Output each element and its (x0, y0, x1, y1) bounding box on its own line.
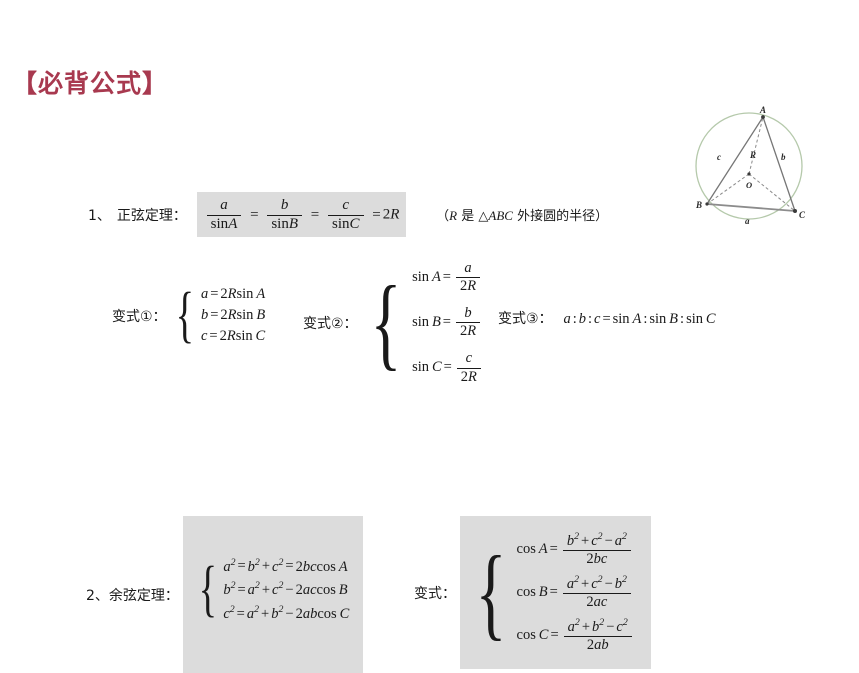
equals-sign: = (600, 311, 612, 327)
left-brace-icon: { (475, 528, 506, 657)
equation-row: cos A=b2+c2−a22bc (517, 528, 635, 571)
fraction: b2+c2−a22bc (563, 531, 631, 568)
fraction: c2R (457, 350, 481, 385)
delta-icon: △ (478, 209, 488, 224)
vertex-dot-B (705, 202, 708, 205)
denominator: sinB (267, 215, 302, 234)
angle-var: C (256, 328, 266, 344)
equation-row: c=2Rsin C (201, 326, 265, 347)
numerator: c (457, 350, 481, 367)
angle-var: B (256, 307, 265, 323)
side-var: b (615, 576, 622, 592)
equation-rows: a2=b2+c2=2bccos A b2=a2+c2−2accos B c2=a… (223, 554, 349, 625)
fraction: a2+b2−c22ab (564, 617, 632, 654)
label-A: A (759, 105, 766, 115)
sine-theorem-formula: a sinA = b sinB = c sinC =2R (197, 192, 407, 237)
exponent: 2 (598, 531, 603, 542)
label-B: B (695, 200, 702, 210)
equals-sign: = (235, 558, 247, 574)
left-brace-icon: { (371, 255, 402, 391)
ratio-colon: : (678, 311, 686, 327)
radius-var: R (468, 369, 477, 385)
variant-3-block: 变式③： a:b:c=sin A:sin B:sin C (498, 308, 716, 328)
circumcircle-shape (696, 113, 802, 219)
cosine-variant-block: 变式： { cos A=b2+c2−a22bc cos B=a2+c2−b22a… (414, 516, 651, 669)
numerator: a (456, 260, 480, 277)
equals-sign: = (248, 207, 260, 223)
equals-sign: = (441, 314, 453, 330)
equals-sign: = (548, 541, 560, 557)
angle-var: C (706, 311, 716, 327)
fraction: b2R (456, 305, 480, 340)
cos-operator: cos (517, 627, 536, 643)
exponent: 2 (622, 574, 627, 585)
product-vars: ac (594, 594, 608, 610)
equals-sign: = (441, 269, 453, 285)
denominator: 2bc (563, 550, 631, 568)
cosine-variant-system: { cos A=b2+c2−a22bc cos B=a2+c2−b22ac co… (466, 528, 635, 657)
ratio-colon: : (586, 311, 594, 327)
radius-var: R (228, 307, 237, 323)
cosine-theorem-index: 2、 (86, 585, 109, 605)
side-var: a (563, 311, 570, 327)
radius-var: R (227, 328, 236, 344)
radius-var: R (467, 278, 476, 294)
sin-operator: sin (332, 216, 350, 232)
cosine-theorem-row: 2、余弦定理： { a2=b2+c2=2bccos A b2=a2+c2−2ac… (86, 516, 363, 673)
equals-sign: = (208, 307, 220, 323)
variant-1-block: 变式①： { a=2Rsin A b=2Rsin B c=2Rsin C (112, 284, 265, 347)
sin-operator: sin (211, 216, 229, 232)
exponent: 2 (622, 531, 627, 542)
numerator: b (267, 197, 302, 215)
denominator: 2R (457, 368, 481, 386)
angle-var: B (289, 216, 298, 232)
fraction-a-over-sinA: a sinA (207, 197, 242, 233)
equation-row: cos C=a2+b2−c22ab (517, 614, 635, 657)
side-var: a (568, 619, 575, 635)
plus-sign: + (580, 619, 592, 635)
sine-theorem-index: 1、 (88, 208, 111, 224)
equals-sign: = (208, 286, 220, 302)
coefficient: 2 (296, 558, 303, 574)
page-title: 【必背公式】 (12, 64, 168, 100)
coefficient: 2 (220, 328, 227, 344)
equation-row: c2=a2+b2−2abcos C (223, 602, 349, 626)
angle-var: A (228, 216, 237, 232)
denominator: sinA (207, 215, 242, 234)
paren-open: （ (436, 209, 449, 224)
variant-3-label: 变式③： (498, 311, 553, 327)
sin-operator: sin (412, 359, 429, 375)
operator-sign: − (283, 582, 295, 598)
angle-var: A (539, 541, 548, 557)
sin-operator: sin (412, 269, 429, 285)
left-brace-icon: { (198, 554, 216, 625)
note-text: 是 (457, 209, 478, 224)
plus-sign: + (260, 582, 272, 598)
operator-sign: = (283, 558, 295, 574)
sine-theorem-row: 1、正弦定理： a sinA = b sinB = c sinC =2R （R … (88, 192, 608, 237)
product-vars: bc (303, 558, 317, 574)
cos-operator: cos (517, 541, 536, 557)
note-text: 外接圆的半径 (513, 209, 595, 224)
coefficient: 2 (587, 637, 594, 653)
equation-row: b=2Rsin B (201, 305, 265, 326)
cosine-variant-label: 变式： (414, 583, 456, 603)
variant-1-system: { a=2Rsin A b=2Rsin B c=2Rsin C (170, 284, 265, 347)
denominator: 2ac (563, 593, 631, 611)
denominator: 2R (456, 322, 480, 340)
angle-var: A (339, 558, 348, 574)
side-var: a (223, 558, 230, 574)
cos-operator: cos (317, 582, 336, 598)
fraction: a2R (456, 260, 480, 295)
variant-2-label: 变式②： (303, 313, 358, 333)
exponent: 2 (623, 617, 628, 628)
equation-row: sin B=b2R (412, 300, 484, 345)
equals-sign: = (207, 328, 219, 344)
equation-row: sin C=c2R (412, 345, 484, 390)
coefficient: 2 (586, 594, 593, 610)
triangle-side-b (763, 117, 795, 211)
equation-row: cos B=a2+c2−b22ac (517, 571, 635, 614)
exponent: 2 (598, 574, 603, 585)
angle-var: B (669, 311, 678, 327)
cosine-variant-formula-box: { cos A=b2+c2−a22bc cos B=a2+c2−b22ac co… (460, 516, 651, 669)
cos-operator: cos (317, 558, 336, 574)
center-dot-O (747, 172, 750, 175)
minus-sign: − (604, 619, 616, 635)
side-var: a (615, 533, 622, 549)
radius-to-A (749, 117, 763, 174)
angle-var: B (432, 314, 441, 330)
label-O: O (746, 180, 752, 190)
equals-sign: = (309, 207, 321, 223)
cosine-theorem-formula-box: { a2=b2+c2=2bccos A b2=a2+c2−2accos B c2… (183, 516, 364, 673)
sin-operator: sin (236, 328, 253, 344)
label-side-c: c (717, 152, 721, 162)
numerator: c (328, 197, 364, 215)
radius-to-B (707, 174, 749, 204)
sin-operator: sin (686, 311, 703, 327)
fraction-c-over-sinC: c sinC (328, 197, 364, 233)
radius-var: R (228, 286, 237, 302)
coefficient: 2 (586, 551, 593, 567)
label-R: R (749, 150, 756, 160)
sine-theorem-label: 正弦定理： (117, 208, 187, 224)
numerator: a2+c2−b2 (563, 574, 631, 593)
fraction: a2+c2−b22ac (563, 574, 631, 611)
side-var: b (248, 558, 255, 574)
variant-1-label: 变式①： (112, 306, 167, 326)
label-side-b: b (781, 152, 786, 162)
numerator: b (456, 305, 480, 322)
numerator: b2+c2−a2 (563, 531, 631, 550)
variant-2-block: 变式②： { sin A=a2R sin B=b2R sin C=c2R (303, 255, 484, 391)
ratio-colon: : (571, 311, 579, 327)
coefficient: 2 (220, 286, 227, 302)
side-var: a (248, 582, 255, 598)
sin-operator: sin (412, 314, 429, 330)
sin-operator: sin (237, 286, 254, 302)
equals-sign: = (548, 584, 560, 600)
plus-sign: + (579, 533, 591, 549)
radius-var: R (467, 323, 476, 339)
label-side-a: a (745, 216, 750, 226)
side-var: a (567, 576, 574, 592)
circumscribed-circle-diagram: A B C O R a b c (688, 104, 816, 232)
vertex-dot-A (761, 115, 765, 119)
product-vars: ac (303, 582, 317, 598)
angle-var: B (539, 584, 548, 600)
angle-var: A (432, 269, 441, 285)
plus-sign: + (579, 576, 591, 592)
cosine-system: { a2=b2+c2=2bccos A b2=a2+c2−2accos B c2… (193, 554, 350, 625)
triangle-vertices: ABC (488, 208, 513, 223)
denominator: sinC (328, 215, 364, 234)
label-C: C (799, 210, 806, 220)
plus-sign: + (260, 558, 272, 574)
sin-operator: sin (613, 311, 630, 327)
diagram-svg: A B C O R a b c (688, 104, 816, 232)
equation-row: a=2Rsin A (201, 284, 265, 305)
variant-3-expression: a:b:c=sin A:sin B:sin C (556, 311, 715, 327)
minus-sign: − (603, 533, 615, 549)
side-var: b (223, 582, 230, 598)
equation-rows: sin A=a2R sin B=b2R sin C=c2R (412, 255, 484, 391)
angle-var: C (350, 216, 360, 232)
denominator: 2R (456, 277, 480, 295)
equals-sign: = (548, 627, 560, 643)
equation-rows: cos A=b2+c2−a22bc cos B=a2+c2−b22ac cos … (517, 528, 635, 657)
exponent: 2 (230, 604, 235, 615)
minus-sign: − (603, 576, 615, 592)
equals-sign: = (235, 582, 247, 598)
cos-operator: cos (517, 584, 536, 600)
sin-operator: sin (237, 307, 254, 323)
radius-var: R (390, 207, 399, 223)
equation-row: b2=a2+c2−2accos B (223, 578, 349, 602)
equation-rows: a=2Rsin A b=2Rsin B c=2Rsin C (201, 284, 265, 347)
fraction-b-over-sinB: b sinB (267, 197, 302, 233)
side-var: b (567, 533, 574, 549)
sine-theorem-note: （R 是 △ABC 外接圆的半径） (436, 209, 608, 224)
side-var: b (579, 311, 586, 327)
denominator: 2ab (564, 636, 632, 654)
coefficient: 2 (220, 307, 227, 323)
vertex-dot-C (793, 209, 797, 213)
equals-sign: = (370, 207, 382, 223)
triangle-side-c (707, 117, 763, 204)
radius-var: R (449, 208, 457, 223)
coefficient: 2 (461, 369, 468, 385)
paren-close: ） (595, 209, 608, 224)
sin-operator: sin (649, 311, 666, 327)
left-brace-icon: { (176, 284, 194, 347)
cosine-theorem-label: 余弦定理： (109, 585, 179, 605)
angle-var: A (256, 286, 265, 302)
numerator: a (207, 197, 242, 215)
product-vars: ab (594, 637, 609, 653)
variant-2-system: { sin A=a2R sin B=b2R sin C=c2R (361, 255, 484, 391)
coefficient: 2 (296, 582, 303, 598)
angle-var: A (632, 311, 641, 327)
angle-var: B (339, 582, 348, 598)
sin-operator: sin (271, 216, 289, 232)
angle-var: C (432, 359, 442, 375)
equation-row: sin A=a2R (412, 255, 484, 300)
equals-sign: = (442, 359, 454, 375)
side-var: b (592, 619, 599, 635)
product-vars: bc (594, 551, 608, 567)
equation-row: a2=b2+c2=2bccos A (223, 554, 349, 578)
